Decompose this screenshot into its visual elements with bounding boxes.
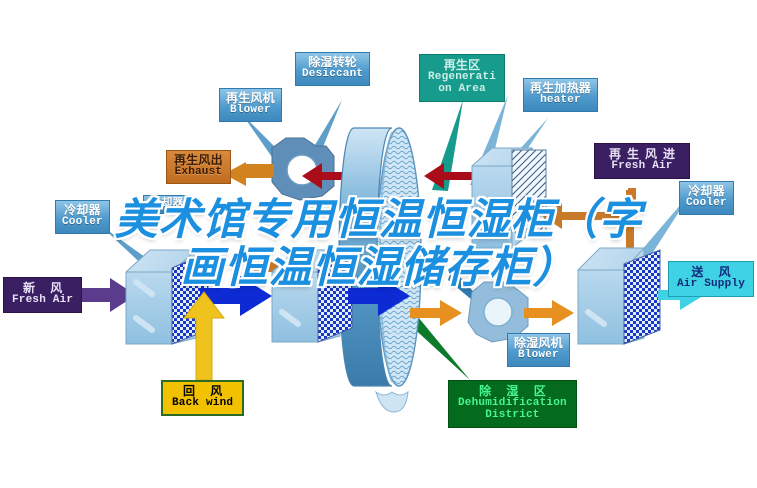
label-regen-fresh-air-en: Fresh Air (603, 161, 681, 173)
exhaust-arrow (224, 162, 274, 186)
label-regen-heater-en: heater (530, 95, 591, 107)
label-fresh-air-cn: 新 风 (12, 282, 73, 295)
label-desiccant-cn: 除湿转轮 (302, 56, 363, 69)
label-exhaust-cn: 再生风出 (174, 154, 223, 167)
label-regen-fresh-air-cn: 再生风进 (603, 148, 681, 161)
supply-filter-unit (578, 248, 660, 344)
label-dehumidification-district[interactable]: 除 湿 区 Dehumidification District (448, 380, 577, 428)
label-air-supply-cn: 送 风 (677, 266, 745, 279)
regen-heater-unit (472, 148, 546, 248)
label-air-supply-en: Air Supply (677, 279, 745, 291)
label-dehumidification-district-en-2: District (458, 410, 567, 422)
label-regeneration-area-en-2: on Area (428, 84, 496, 96)
label-dehum-blower-en: Blower (514, 350, 563, 362)
label-cooler-mid[interactable]: 冷却器 (143, 195, 191, 214)
dehumidifier-schematic-illustration: xtd (0, 0, 757, 488)
regen-blower-unit (272, 138, 334, 200)
label-back-wind-cn: 回 风 (172, 385, 233, 398)
label-desiccant[interactable]: 除湿转轮 Desiccant (295, 52, 370, 86)
label-cooler-left-en: Cooler (62, 217, 103, 229)
label-fresh-air[interactable]: 新 风 Fresh Air (3, 277, 82, 313)
label-regen-blower[interactable]: 再生风机 Blower (219, 88, 282, 122)
label-regen-blower-en: Blower (226, 105, 275, 117)
label-fresh-air-en: Fresh Air (12, 295, 73, 307)
label-cooler-right[interactable]: 冷却器 Cooler (679, 181, 734, 215)
cooler-unit-2 (272, 250, 352, 342)
label-air-supply[interactable]: 送 风 Air Supply (668, 261, 754, 297)
label-regen-fresh-air[interactable]: 再生风进 Fresh Air (594, 143, 690, 179)
label-cooler-left-cn: 冷却器 (62, 204, 103, 217)
label-regen-heater-cn: 再生加热器 (530, 82, 591, 95)
label-regeneration-area-cn: 再生区 (428, 59, 496, 72)
label-back-wind[interactable]: 回 风 Back wind (161, 380, 244, 416)
svg-text:xtd: xtd (390, 325, 405, 337)
label-regen-blower-cn: 再生风机 (226, 92, 275, 105)
label-exhaust[interactable]: 再生风出 Exhaust (166, 150, 231, 184)
regen-air-to-heater-arrow (456, 252, 516, 278)
label-cooler-right-en: Cooler (686, 198, 727, 210)
label-regeneration-area[interactable]: 再生区 Regenerati on Area (419, 54, 505, 102)
label-cooler-right-cn: 冷却器 (686, 185, 727, 198)
label-dehumidification-district-cn: 除 湿 区 (458, 385, 567, 398)
label-cooler-mid-cn: 冷却器 (150, 198, 184, 210)
label-dehum-blower-cn: 除湿风机 (514, 337, 563, 350)
label-cooler-left[interactable]: 冷却器 Cooler (55, 200, 110, 234)
label-desiccant-en: Desiccant (302, 69, 363, 81)
diagram-canvas: xtd (0, 0, 757, 488)
label-dehum-blower[interactable]: 除湿风机 Blower (507, 333, 570, 367)
label-exhaust-en: Exhaust (174, 167, 223, 179)
label-back-wind-en: Back wind (172, 398, 233, 410)
label-regen-heater[interactable]: 再生加热器 heater (523, 78, 598, 112)
